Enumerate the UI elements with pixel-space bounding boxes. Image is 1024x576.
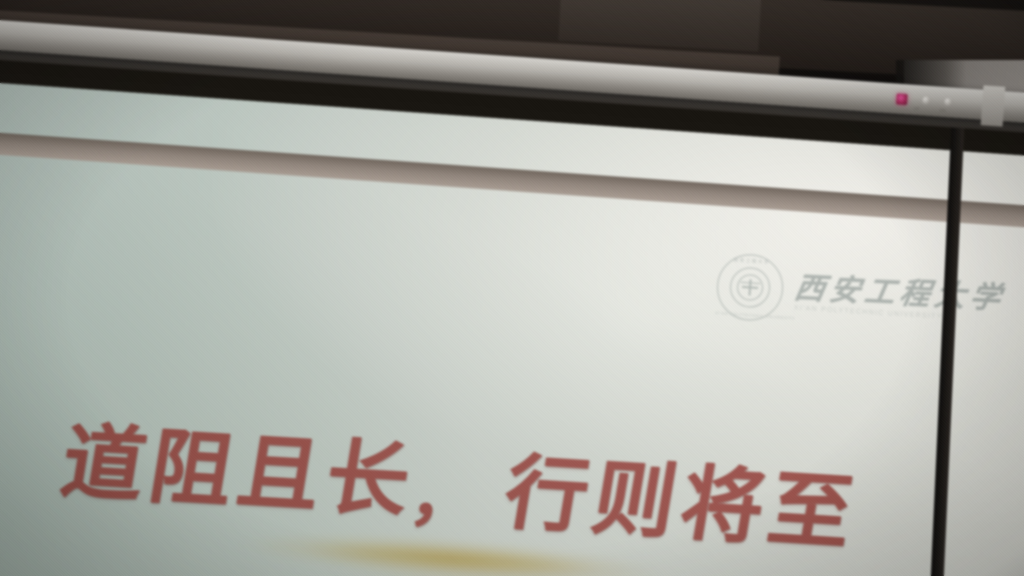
slide-headline: 道阻且长 ， 行则将至 [60, 418, 854, 556]
casing-end-cap [981, 85, 1006, 126]
headline-phrase-1: 道阻且长 [56, 421, 421, 523]
up-button-label: UP [914, 106, 920, 111]
university-logo: 西安工程大学 XI'AN POLYTECHNIC UNIVERSITY 西安工程… [715, 252, 1007, 338]
university-seal-icon: 西安工程大学 XI'AN POLYTECHNIC UNIVERSITY [715, 252, 785, 322]
headline-phrase-2: 行则将至 [499, 452, 864, 555]
ink-wash-stroke-soft [325, 559, 656, 576]
headline-comma: ， [406, 462, 488, 533]
university-name-block: 西安工程大学 XI'AN POLYTECHNIC UNIVERSITY [794, 270, 1006, 325]
down-button[interactable] [944, 98, 953, 107]
power-indicator-led [896, 93, 908, 105]
up-button[interactable] [922, 96, 931, 105]
down-button-label: DN [939, 107, 946, 112]
lecture-hall-photo: 西安工程大学 XI'AN POLYTECHNIC UNIVERSITY 西安工程… [0, 0, 1024, 576]
